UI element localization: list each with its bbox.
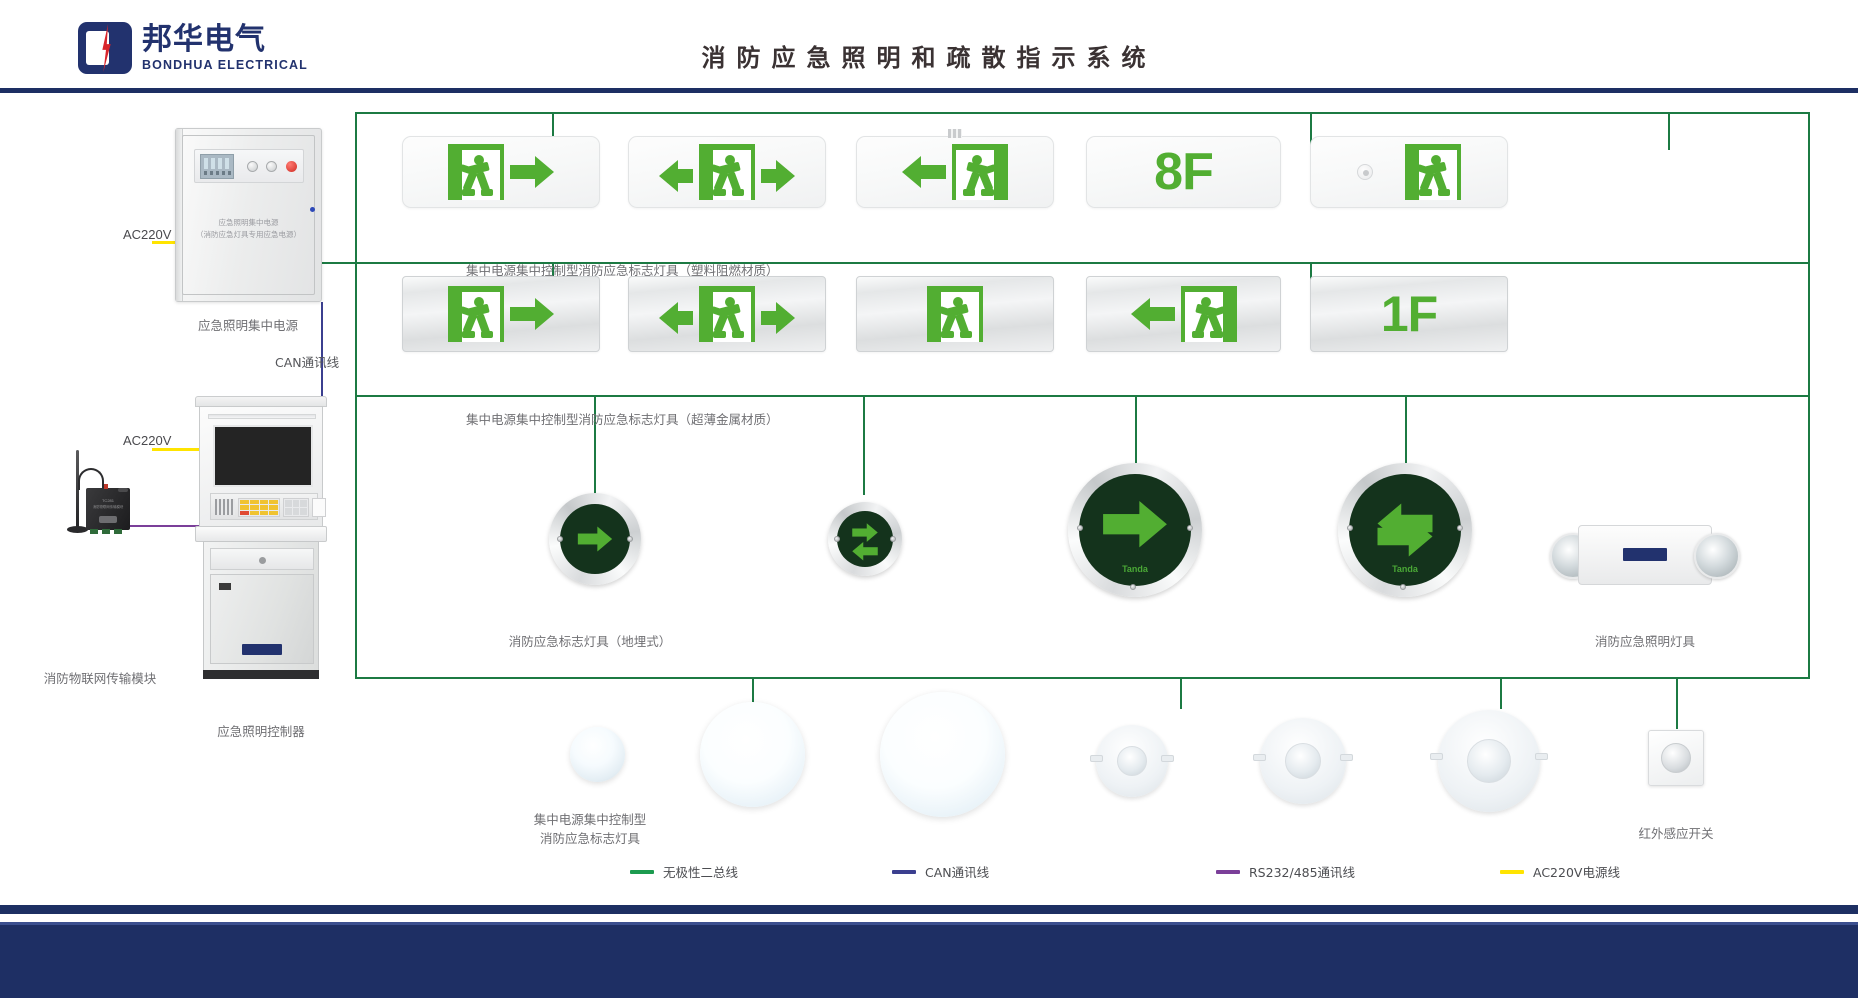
drop-r4-3 — [1500, 677, 1502, 709]
running-man-icon — [699, 144, 755, 200]
cabinet-alarm-led — [286, 161, 297, 172]
row3-caption: 消防应急标志灯具（地埋式） — [440, 633, 740, 652]
iot-box-subtitle: 消防物联网传输模块 — [86, 504, 130, 509]
floor-embedded-right[interactable] — [549, 493, 641, 585]
ac220v-label-cabinet: AC220V — [123, 227, 171, 242]
drop-r1-3 — [1668, 112, 1670, 150]
arrow-right-icon — [1378, 513, 1433, 561]
legend-label-ac220v: AC220V电源线 — [1533, 862, 1620, 881]
fire-iot-transmission-module[interactable]: TC281 消防物联网传输模块 — [60, 450, 130, 560]
arrow-left-icon — [852, 540, 878, 556]
downlight-large[interactable] — [1438, 710, 1540, 812]
metal-exit-sign-right[interactable] — [402, 276, 600, 352]
legend-swatch-ac220v — [1500, 870, 1524, 874]
legend-item-bus: 无极性二总线 — [630, 862, 738, 881]
arrow-left-icon — [659, 299, 693, 329]
lamp-head-right-icon — [1694, 533, 1740, 579]
arrow-right-icon — [852, 522, 878, 538]
arrow-right-icon — [578, 524, 612, 554]
emergency-power-cabinet[interactable]: 应急照明集中电源 （消防应急灯具专用应急电源） — [175, 128, 322, 302]
small-ceiling-light[interactable] — [570, 727, 625, 782]
arrow-right-icon — [1103, 497, 1167, 552]
arrow-right-icon — [510, 153, 554, 191]
controller-keypad[interactable] — [238, 498, 280, 517]
iot-connector — [118, 488, 128, 492]
floor-sign-brand: Tanda — [1349, 564, 1461, 574]
iot-box-title: TC281 — [86, 498, 130, 503]
cabinet-lcd-icon — [200, 154, 234, 179]
floor-indicator-8f[interactable]: 8F — [1086, 136, 1281, 208]
controller-screen[interactable] — [213, 425, 313, 487]
metal-exit-sign-bidirectional[interactable] — [628, 276, 826, 352]
speaker-grille-icon — [215, 499, 235, 515]
drop-r3-3 — [1135, 395, 1137, 463]
drop-r4-2 — [1180, 677, 1182, 709]
printer-slot — [312, 498, 326, 517]
legend-item-ac220v: AC220V电源线 — [1500, 862, 1620, 881]
floor-number-label: 1F — [1381, 285, 1437, 343]
cabinet-control-panel[interactable] — [194, 149, 304, 183]
legend: 无极性二总线 CAN通讯线 RS232/485通讯线 AC220V电源线 — [630, 862, 1690, 888]
floor-embedded-double[interactable] — [828, 502, 902, 576]
downlight-small[interactable] — [1096, 725, 1168, 797]
running-man-icon — [1181, 286, 1237, 342]
console-brand-logo — [242, 644, 282, 655]
console-drawer[interactable] — [210, 548, 314, 570]
legend-swatch-bus — [630, 870, 654, 874]
ir-switch-caption: 红外感应开关 — [1596, 825, 1756, 844]
drop-r3-4 — [1405, 395, 1407, 463]
header-divider — [0, 88, 1858, 93]
twinlight-brand-logo — [1623, 548, 1667, 561]
ir-dome-icon — [1661, 743, 1691, 773]
bottom-caption-line1: 集中电源集中控制型 — [440, 811, 740, 830]
cabinet-indicator-dot — [310, 207, 315, 212]
bus-row3-horizontal — [355, 395, 1810, 397]
arrow-right-icon — [761, 157, 795, 187]
bottom-row-caption: 集中电源集中控制型 消防应急标志灯具 — [440, 811, 740, 849]
vent-icon — [219, 583, 231, 590]
large-panel-light[interactable] — [880, 692, 1005, 817]
footer-band — [0, 922, 1858, 998]
infrared-sensor-switch[interactable] — [1648, 730, 1704, 786]
arrow-left-icon — [1131, 295, 1175, 333]
emergency-lighting-controller[interactable] — [195, 396, 327, 686]
legend-label-bus: 无极性二总线 — [663, 862, 738, 881]
downlight-medium[interactable] — [1260, 718, 1346, 804]
bus-cabinet-link — [322, 262, 355, 264]
power-cabinet-caption: 应急照明集中电源 — [168, 317, 328, 336]
controller-caption: 应急照明控制器 — [181, 723, 341, 742]
mounting-clip-icon — [948, 129, 962, 138]
running-man-icon — [927, 286, 983, 342]
legend-swatch-can — [892, 870, 916, 874]
lock-icon — [259, 557, 266, 564]
bus-right-vertical — [1808, 112, 1810, 677]
exit-sign-bidirectional[interactable] — [628, 136, 826, 208]
drop-ir-switch — [1676, 677, 1678, 729]
cabinet-text-line2: （消防应急灯具专用应急电源） — [176, 229, 321, 241]
bus-row1-horizontal — [355, 112, 1810, 114]
running-man-icon — [952, 144, 1008, 200]
legend-swatch-rs232 — [1216, 870, 1240, 874]
footer-divider — [0, 905, 1858, 914]
arrow-left-icon — [659, 157, 693, 187]
running-man-icon — [699, 286, 755, 342]
arrow-right-icon — [510, 295, 554, 333]
sensor-icon — [1357, 164, 1373, 180]
legend-label-rs232: RS232/485通讯线 — [1249, 862, 1355, 881]
iot-module-caption: 消防物联网传输模块 — [20, 670, 180, 689]
running-man-icon — [448, 144, 504, 200]
floor-embedded-large-right[interactable]: Tanda — [1068, 463, 1202, 597]
floor-sign-brand: Tanda — [1079, 564, 1191, 574]
page-title: 消防应急照明和疏散指示系统 — [0, 38, 1858, 73]
controller-function-keys[interactable] — [283, 498, 309, 517]
legend-item-rs232: RS232/485通讯线 — [1216, 862, 1355, 881]
metal-floor-indicator-1f[interactable]: 1F — [1310, 276, 1508, 352]
bus-row4-horizontal — [355, 677, 1810, 679]
exit-sign-sensor[interactable] — [1310, 136, 1508, 208]
cabinet-knob-2[interactable] — [266, 161, 277, 172]
exit-sign-left[interactable] — [856, 136, 1054, 208]
arrow-right-icon — [761, 299, 795, 329]
arrow-left-icon — [902, 153, 946, 191]
bottom-caption-line2: 消防应急标志灯具 — [440, 830, 740, 849]
cabinet-knob-1[interactable] — [247, 161, 258, 172]
iot-status-led — [104, 484, 108, 489]
floor-embedded-large-double[interactable]: Tanda — [1338, 463, 1472, 597]
console-cabinet-door[interactable] — [210, 574, 314, 664]
running-man-icon — [1405, 144, 1461, 200]
legend-label-can: CAN通讯线 — [925, 862, 989, 881]
twin-light-caption: 消防应急照明灯具 — [1565, 633, 1725, 652]
floor-number-label: 8F — [1154, 142, 1213, 202]
medium-panel-light[interactable] — [700, 702, 805, 807]
legend-item-can: CAN通讯线 — [892, 862, 989, 881]
cabinet-text-line1: 应急照明集中电源 — [176, 217, 321, 229]
running-man-icon — [448, 286, 504, 342]
ac220v-label-console: AC220V — [123, 433, 171, 448]
can-wire-label: CAN通讯线 — [275, 352, 339, 371]
row2-caption: 集中电源集中控制型消防应急标志灯具（超薄金属材质） — [390, 411, 910, 430]
exit-sign-right[interactable] — [402, 136, 600, 208]
drop-r3-2 — [863, 395, 865, 495]
metal-exit-sign-left[interactable] — [1086, 276, 1281, 352]
metal-exit-sign-plain[interactable] — [856, 276, 1054, 352]
emergency-twin-head-light[interactable] — [1550, 519, 1740, 597]
drop-r3-1 — [594, 395, 596, 495]
page-header: 邦华电气 BONDHUA ELECTRICAL 消防应急照明和疏散指示系统 — [0, 0, 1858, 92]
